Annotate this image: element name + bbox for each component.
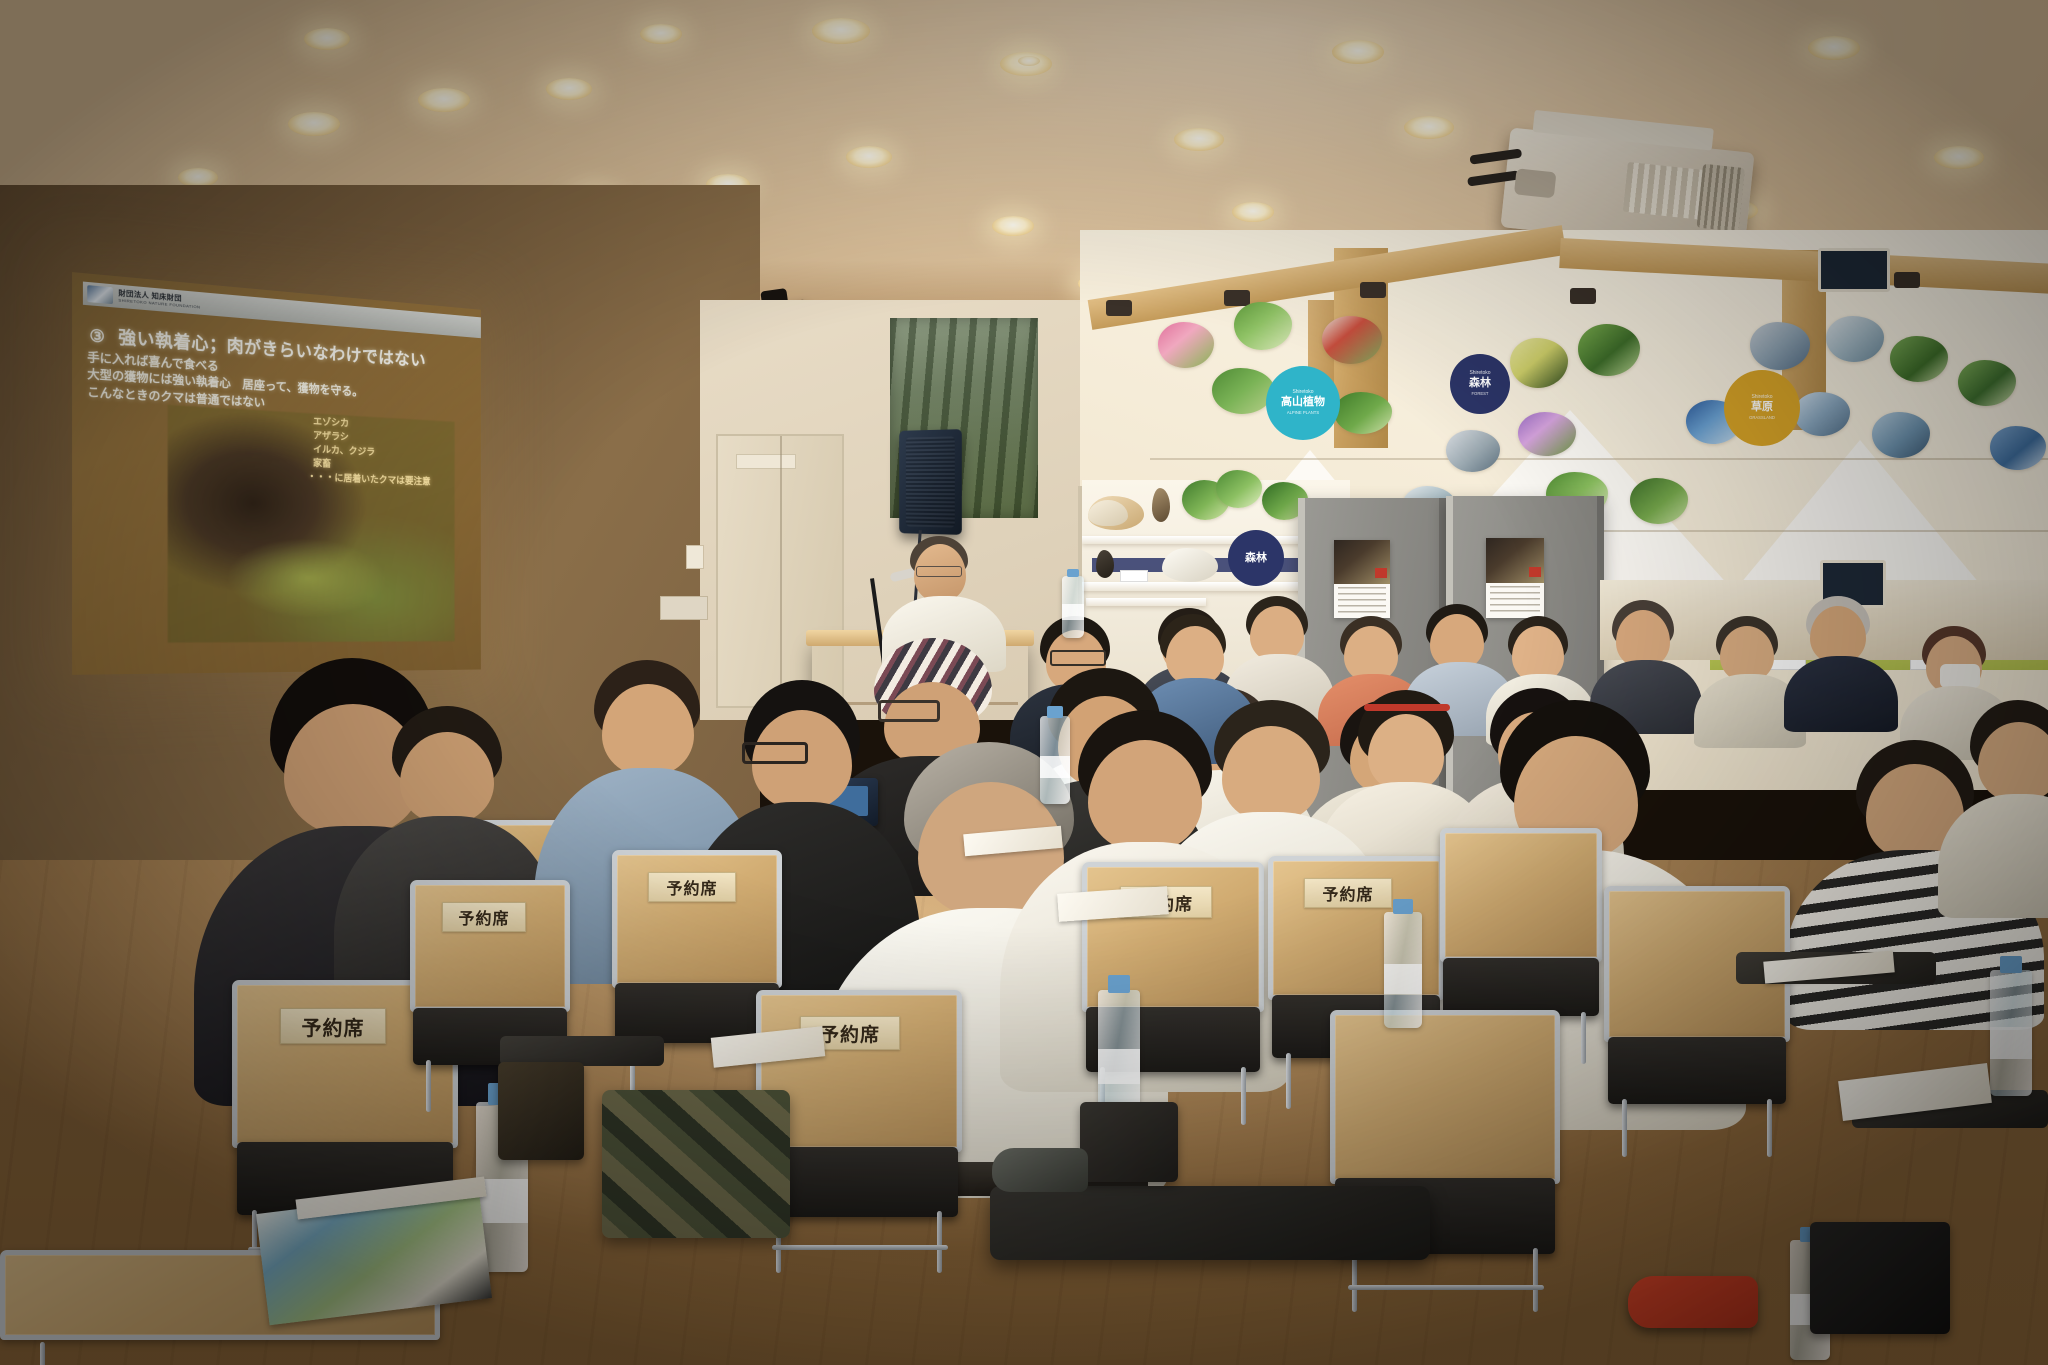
chair-back xyxy=(1440,828,1602,962)
bottle-cap xyxy=(1047,706,1063,717)
chair-rail xyxy=(772,1245,948,1250)
chair-leg xyxy=(1622,1099,1627,1157)
projector-lens xyxy=(1514,168,1556,198)
reserved-seat-sign: 予約席 xyxy=(648,872,736,902)
track-light xyxy=(1894,272,1920,288)
shoulder-bag[interactable] xyxy=(498,1062,584,1160)
bottle-label xyxy=(1098,1049,1140,1083)
flora-photo xyxy=(1826,316,1884,362)
chair-rail xyxy=(1348,1285,1544,1290)
chair-leg xyxy=(1767,1099,1772,1157)
torso xyxy=(1784,656,1898,732)
flora-photo xyxy=(1990,426,2046,470)
water-bottle[interactable] xyxy=(1990,970,2032,1096)
water-bottle[interactable] xyxy=(1384,912,1422,1028)
slide-animal-list: エゾシカ アザラシ イルカ、クジラ 家畜 ・・・に居着いたクマは要注意 xyxy=(313,415,431,489)
round-label-main: 森林 xyxy=(1245,552,1267,565)
exhibit-case-label xyxy=(1120,570,1148,582)
track-light xyxy=(1106,300,1132,316)
water-bottle[interactable] xyxy=(1062,576,1084,638)
flora-photo xyxy=(1322,316,1382,364)
round-label-top: Shiretoko xyxy=(1292,390,1313,396)
poster-accent xyxy=(1529,567,1541,577)
bottle-label xyxy=(1384,964,1422,994)
door-closer xyxy=(736,454,796,469)
exhibit-round-label: 森林 xyxy=(1228,530,1284,586)
ceiling-downlight xyxy=(1332,40,1384,64)
water-bottle[interactable] xyxy=(1040,716,1070,804)
bird-taxidermy xyxy=(1096,550,1114,578)
ceiling-downlight xyxy=(418,88,470,112)
ceiling-downlight xyxy=(304,28,350,50)
flora-photo xyxy=(1158,322,1214,368)
exhibit-round-label: Shiretoko 森林 FOREST xyxy=(1450,354,1510,414)
round-label-sub: GRASSLAND xyxy=(1749,416,1775,421)
chair[interactable] xyxy=(1604,886,1790,1146)
foundation-logo-icon xyxy=(87,285,113,304)
round-label-main: 高山植物 xyxy=(1281,396,1325,409)
chair-leg xyxy=(1241,1067,1246,1125)
flora-photo xyxy=(1212,368,1274,414)
flora-photo xyxy=(1510,338,1568,388)
exhibit-round-label: Shiretoko 高山植物 ALPINE PLANTS xyxy=(1266,366,1340,440)
chair-leg xyxy=(40,1342,45,1365)
poster-accent xyxy=(1375,568,1387,578)
ceiling-downlight xyxy=(546,78,592,100)
flora-photo xyxy=(1794,392,1850,436)
head xyxy=(400,732,494,824)
flora-photo xyxy=(1234,302,1292,350)
flora-photo xyxy=(1578,324,1640,376)
projector-vent xyxy=(1696,164,1744,232)
shoulder-bag[interactable] xyxy=(1080,1102,1178,1182)
chair-seat xyxy=(1608,1037,1787,1105)
chair-back xyxy=(612,850,782,988)
audience-member xyxy=(1790,596,1888,728)
bottle-cap xyxy=(1393,899,1413,914)
slide-number: ③ xyxy=(89,325,105,347)
head xyxy=(602,684,694,776)
face-mask-icon xyxy=(1940,664,1980,688)
chair-leg xyxy=(937,1211,942,1273)
hare-taxidermy xyxy=(1162,548,1218,582)
bear-awareness-poster xyxy=(1334,540,1390,618)
ceiling-downlight xyxy=(846,146,892,168)
round-label-main: 草原 xyxy=(1751,401,1773,414)
light-switch[interactable] xyxy=(686,545,704,569)
chair-leg xyxy=(1286,1053,1291,1109)
bird-taxidermy xyxy=(1152,488,1170,522)
torso xyxy=(1938,794,2048,918)
ceiling-downlight xyxy=(1018,56,1040,66)
chair-leg xyxy=(426,1060,431,1112)
ceiling-downlight xyxy=(992,216,1034,236)
skull-specimen xyxy=(1088,500,1128,526)
exhibit-monitor xyxy=(1818,248,1890,292)
ceiling-downlight xyxy=(1404,116,1454,139)
bottle-cap xyxy=(1067,569,1078,577)
chair-back xyxy=(1330,1010,1560,1184)
round-label-top: Shiretoko xyxy=(1751,395,1772,401)
audience-member xyxy=(1952,700,2048,910)
exhibit-round-label: Shiretoko 草原 GRASSLAND xyxy=(1724,370,1800,446)
glasses-icon xyxy=(742,742,808,764)
poster-text-lines xyxy=(1338,587,1386,614)
ceiling-downlight xyxy=(812,18,870,44)
reserved-seat-sign: 予約席 xyxy=(280,1008,386,1044)
chair-leg xyxy=(1533,1248,1538,1312)
bottle-cap xyxy=(1108,975,1130,992)
bottle-label xyxy=(1990,1027,2032,1060)
bottle-label xyxy=(1040,756,1070,779)
sneaker xyxy=(1628,1276,1758,1328)
flora-photo xyxy=(1958,360,2016,406)
wall-sign xyxy=(660,596,708,620)
track-light xyxy=(1360,282,1386,298)
chair-seat xyxy=(1443,958,1599,1016)
glasses-icon xyxy=(1050,650,1106,666)
ceiling-downlight xyxy=(288,112,340,136)
camouflage-bag[interactable] xyxy=(602,1090,790,1238)
door-seam xyxy=(780,436,782,706)
chair-writing-tablet xyxy=(990,1186,1430,1260)
projector-port-panel xyxy=(1623,162,1708,220)
round-label-top: Shiretoko xyxy=(1469,371,1490,377)
projected-slide: 財団法人 知床財団 SHIRETOKO NATURE FOUNDATION ③ … xyxy=(72,272,481,675)
bottle-label xyxy=(1062,604,1084,620)
chair-back xyxy=(410,880,570,1012)
shoe xyxy=(992,1148,1088,1192)
ceiling-downlight xyxy=(1174,128,1224,151)
ceiling-downlight xyxy=(1232,202,1274,222)
ceiling-downlight xyxy=(1934,146,1984,169)
ceiling-downlight xyxy=(640,24,682,44)
reserved-seat-sign: 予約席 xyxy=(1304,878,1392,908)
bottle-cap xyxy=(2000,956,2022,972)
flora-photo xyxy=(1890,336,1948,382)
round-label-sub: FOREST xyxy=(1472,392,1489,397)
wall-pa-speaker xyxy=(899,429,962,535)
ceiling-downlight xyxy=(1808,36,1860,60)
shoulder-bag[interactable] xyxy=(1810,1222,1950,1334)
chair-leg xyxy=(1581,1012,1586,1064)
exhibit-shelf xyxy=(1086,598,1206,606)
reserved-seat-sign: 予約席 xyxy=(442,902,526,932)
flora-photo xyxy=(1750,322,1810,370)
presenter-glasses-icon xyxy=(916,566,962,577)
round-label-main: 森林 xyxy=(1469,377,1491,390)
lecture-hall-photo: 財団法人 知床財団 SHIRETOKO NATURE FOUNDATION ③ … xyxy=(0,0,2048,1365)
exhibit-shelf-line xyxy=(1150,458,2048,460)
round-label-sub: ALPINE PLANTS xyxy=(1287,411,1319,416)
